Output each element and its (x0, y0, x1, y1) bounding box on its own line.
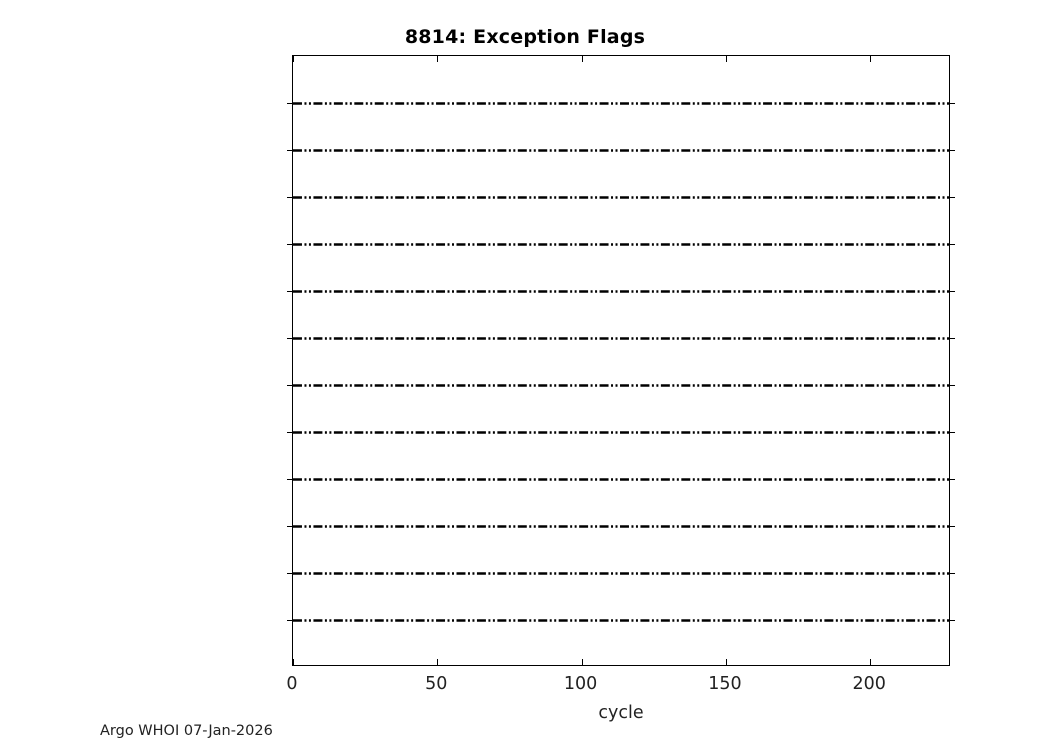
figure-canvas: 8814: Exception Flags VALVE FAILED TO OP… (0, 0, 1050, 750)
x-tick-mark (726, 56, 727, 62)
x-axis-tick-label: 50 (425, 674, 447, 694)
x-tick-mark (870, 659, 871, 665)
y-tick-mark (287, 526, 293, 527)
x-tick-mark (870, 56, 871, 62)
x-axis-tick-label: 0 (286, 674, 297, 694)
y-tick-mark (949, 526, 955, 527)
footer-credit: Argo WHOI 07-Jan-2026 (100, 723, 273, 739)
y-tick-mark (287, 432, 293, 433)
plot-area (292, 55, 950, 666)
y-tick-mark (949, 573, 955, 574)
x-tick-mark (293, 659, 294, 665)
x-tick-mark (293, 56, 294, 62)
y-tick-mark (949, 103, 955, 104)
y-tick-mark (287, 573, 293, 574)
x-axis-title: cycle (292, 703, 950, 723)
x-tick-mark (726, 659, 727, 665)
y-tick-mark (949, 291, 955, 292)
y-tick-mark (287, 150, 293, 151)
page-title: 8814: Exception Flags (0, 26, 1050, 48)
x-axis-tick-label: 150 (708, 674, 741, 694)
x-tick-mark (437, 56, 438, 62)
y-tick-mark (949, 385, 955, 386)
y-tick-mark (949, 197, 955, 198)
y-tick-mark (287, 291, 293, 292)
y-tick-mark (949, 432, 955, 433)
x-axis-tick-label: 200 (852, 674, 885, 694)
y-tick-mark (287, 197, 293, 198)
y-tick-mark (287, 479, 293, 480)
y-tick-mark (949, 150, 955, 151)
y-tick-mark (287, 620, 293, 621)
y-tick-mark (949, 479, 955, 480)
y-tick-mark (287, 103, 293, 104)
x-tick-mark (582, 659, 583, 665)
y-tick-mark (949, 244, 955, 245)
y-tick-mark (287, 244, 293, 245)
y-tick-mark (287, 385, 293, 386)
y-tick-mark (949, 338, 955, 339)
x-axis-tick-label: 100 (564, 674, 597, 694)
x-tick-mark (437, 659, 438, 665)
y-tick-mark (949, 620, 955, 621)
y-tick-mark (287, 338, 293, 339)
x-tick-mark (582, 56, 583, 62)
